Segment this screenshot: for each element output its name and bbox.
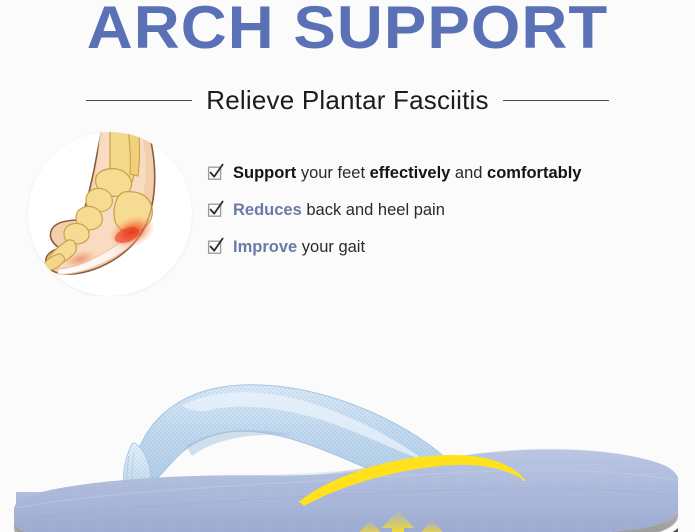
benefit-text: and [450,164,487,182]
list-item-text: Improve your gait [233,237,365,257]
checkbox-checked-icon [207,163,224,182]
benefits-list: Support your feet effectively and comfor… [207,163,695,274]
benefit-text: back and heel pain [302,201,445,219]
benefit-keyword: comfortably [487,164,581,182]
benefit-keyword: Reduces [233,201,302,219]
benefit-keyword: Support [233,164,296,182]
checkbox-checked-icon [207,237,224,256]
divider-right [503,100,609,101]
list-item: Improve your gait [207,237,695,257]
benefit-text: your gait [297,238,365,256]
subtitle-row: Relieve Plantar Fasciitis [0,85,695,116]
product-image-sandal [0,296,695,532]
list-item: Reduces back and heel pain [207,200,695,220]
benefit-text: your feet [296,164,369,182]
list-item: Support your feet effectively and comfor… [207,163,695,183]
list-item-text: Support your feet effectively and comfor… [233,163,581,183]
foot-anatomy-illustration [28,132,192,296]
page-title: ARCH SUPPORT [0,0,695,61]
benefit-keyword: Improve [233,238,297,256]
subtitle: Relieve Plantar Fasciitis [206,85,488,116]
list-item-text: Reduces back and heel pain [233,200,445,220]
benefit-keyword: effectively [370,164,451,182]
divider-left [86,100,192,101]
checkbox-checked-icon [207,200,224,219]
